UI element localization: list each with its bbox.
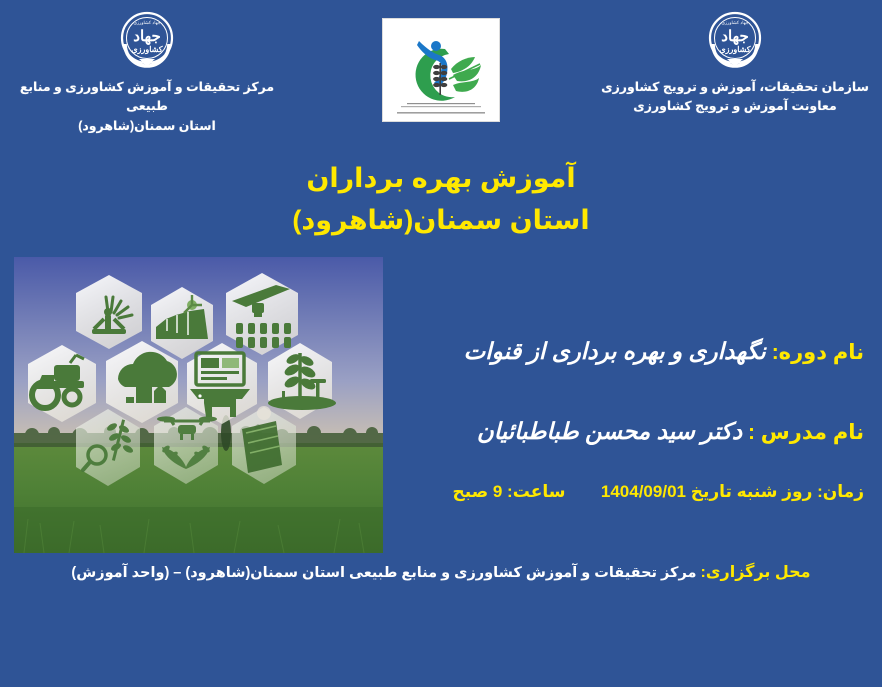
svg-text:کشاورزی: کشاورزی [131, 45, 162, 55]
svg-text:کشاورزی: کشاورزی [719, 45, 750, 55]
jihad-keshavarzi-seal-icon: جهاد کشاورزی جهاد کشاورزی [111, 10, 183, 72]
agricultural-education-extension-logo [382, 18, 500, 122]
hour-value: 9 صبح [453, 482, 503, 501]
date-label: زمان: [817, 482, 864, 501]
left-org-caption-line1: مرکز تحقیقات و آموزش کشاورزی و منابع طبی… [4, 78, 290, 117]
poster-canvas: جهاد کشاورزی جهاد کشاورزی مرکز تحقیقات و… [0, 0, 882, 687]
left-organization-caption: مرکز تحقیقات و آموزش کشاورزی و منابع طبی… [4, 78, 290, 136]
right-org-caption-line2: معاونت آموزش و ترویج کشاورزی [592, 97, 878, 116]
course-name-row: نام دوره: نگهداری و بهره برداری از قنوات [464, 338, 864, 365]
left-organization-block: جهاد کشاورزی جهاد کشاورزی مرکز تحقیقات و… [4, 10, 290, 136]
jihad-keshavarzi-seal-icon: جهاد کشاورزی جهاد کشاورزی [699, 10, 771, 72]
right-org-caption-line1: سازمان تحقیقات، آموزش و ترویج کشاورزی [592, 78, 878, 97]
date-value: روز شنبه تاریخ 1404/09/01 [601, 482, 813, 501]
course-name-label: نام دوره: [772, 341, 864, 364]
title-line-2: استان سمنان(شاهرود) [0, 200, 882, 242]
course-name-value: نگهداری و بهره برداری از قنوات [464, 338, 766, 364]
hour-label: ساعت: [507, 482, 565, 501]
right-organization-block: جهاد کشاورزی جهاد کشاورزی سازمان تحقیقات… [592, 10, 878, 117]
svg-text:جهاد کشاورزی: جهاد کشاورزی [133, 20, 160, 26]
left-org-caption-line2: استان سمنان(شاهرود) [4, 117, 290, 136]
svg-text:جهاد: جهاد [721, 28, 748, 45]
title-line-1: آموزش بهره برداران [306, 163, 575, 193]
svg-text:جهاد: جهاد [133, 28, 160, 45]
venue-value: مرکز تحقیقات و آموزش کشاورزی و منابع طبی… [71, 565, 696, 581]
poster-main-title: آموزش بهره برداران استان سمنان(شاهرود) [0, 158, 882, 242]
instructor-value: دکتر سید محسن طباطبائیان [477, 418, 742, 444]
instructor-label: نام مدرس : [748, 421, 864, 444]
right-organization-caption: سازمان تحقیقات، آموزش و ترویج کشاورزی مع… [592, 78, 878, 117]
svg-text:جهاد کشاورزی: جهاد کشاورزی [721, 20, 748, 26]
smart-agriculture-hero-image [14, 257, 383, 553]
poster-header: جهاد کشاورزی جهاد کشاورزی مرکز تحقیقات و… [0, 0, 882, 148]
venue-label: محل برگزاری: [701, 564, 811, 581]
datetime-row: زمان: روز شنبه تاریخ 1404/09/01 ساعت: 9 … [453, 482, 865, 502]
venue-row: محل برگزاری: مرکز تحقیقات و آموزش کشاورز… [0, 562, 882, 582]
instructor-row: نام مدرس : دکتر سید محسن طباطبائیان [477, 418, 864, 445]
